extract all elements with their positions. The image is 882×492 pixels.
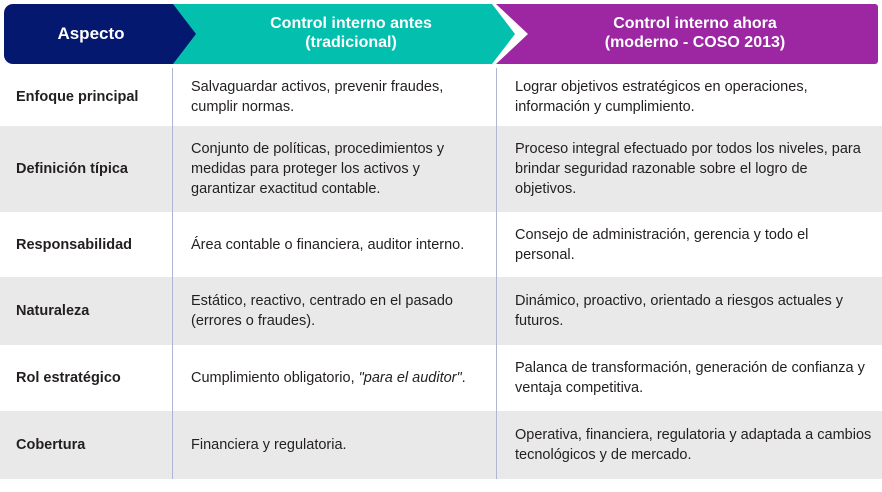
- cell-antes-text-prefix: Cumplimiento obligatorio,: [191, 370, 359, 386]
- cell-antes-text: Financiera y regulatoria.: [191, 435, 347, 455]
- table-header-row: Aspecto Control interno antes (tradicion…: [0, 0, 882, 68]
- cell-antes-text-suffix: .: [462, 370, 466, 386]
- cell-antes: Conjunto de políticas, procedimientos y …: [172, 126, 496, 212]
- table-row: Responsabilidad Área contable o financie…: [0, 212, 882, 277]
- cell-antes: Cumplimiento obligatorio, "para el audit…: [172, 345, 496, 411]
- cell-aspect-text: Naturaleza: [16, 301, 89, 321]
- cell-antes: Estático, reactivo, centrado en el pasad…: [172, 277, 496, 345]
- table-row: Rol estratégico Cumplimiento obligatorio…: [0, 345, 882, 411]
- cell-antes-text: Estático, reactivo, centrado en el pasad…: [191, 291, 482, 331]
- cell-antes-text: Salvaguardar activos, prevenir fraudes, …: [191, 77, 482, 117]
- header-cell-control-interno-ahora: Control interno ahora (moderno - COSO 20…: [496, 4, 878, 64]
- cell-aspect: Cobertura: [0, 411, 172, 479]
- cell-aspect-text: Cobertura: [16, 435, 85, 455]
- header-cell-aspecto: Aspecto: [4, 4, 200, 64]
- cell-ahora: Palanca de transformación, generación de…: [496, 345, 882, 411]
- header-label-control-interno-ahora: Control interno ahora (moderno - COSO 20…: [605, 15, 785, 52]
- cell-aspect: Definición típica: [0, 126, 172, 212]
- cell-aspect: Enfoque principal: [0, 68, 172, 126]
- cell-antes: Salvaguardar activos, prevenir fraudes, …: [172, 68, 496, 126]
- table-row: Enfoque principal Salvaguardar activos, …: [0, 68, 882, 126]
- cell-aspect-text: Responsabilidad: [16, 235, 132, 255]
- cell-aspect-text: Definición típica: [16, 159, 128, 179]
- table-row: Definición típica Conjunto de políticas,…: [0, 126, 882, 212]
- cell-antes-text: Área contable o financiera, auditor inte…: [191, 235, 464, 255]
- cell-ahora-text: Operativa, financiera, regulatoria y ada…: [515, 425, 872, 465]
- cell-ahora: Lograr objetivos estratégicos en operaci…: [496, 68, 882, 126]
- table-row: Naturaleza Estático, reactivo, centrado …: [0, 277, 882, 345]
- cell-antes-text: Conjunto de políticas, procedimientos y …: [191, 139, 482, 199]
- cell-ahora-text: Consejo de administración, gerencia y to…: [515, 225, 872, 265]
- cell-aspect-text: Enfoque principal: [16, 87, 138, 107]
- cell-ahora: Proceso integral efectuado por todos los…: [496, 126, 882, 212]
- header-cell-control-interno-antes: Control interno antes (tradicional): [173, 4, 529, 64]
- cell-aspect: Naturaleza: [0, 277, 172, 345]
- cell-aspect: Rol estratégico: [0, 345, 172, 411]
- cell-antes-text: Cumplimiento obligatorio, "para el audit…: [191, 368, 466, 388]
- header-label-control-interno-antes: Control interno antes (tradicional): [270, 15, 432, 52]
- cell-ahora-text: Palanca de transformación, generación de…: [515, 358, 872, 398]
- cell-ahora: Operativa, financiera, regulatoria y ada…: [496, 411, 882, 479]
- cell-antes-text-emphasis: "para el auditor": [359, 370, 462, 386]
- comparison-table: Aspecto Control interno antes (tradicion…: [0, 0, 882, 492]
- table-body: Enfoque principal Salvaguardar activos, …: [0, 68, 882, 479]
- header-label-aspecto: Aspecto: [57, 24, 124, 44]
- cell-ahora-text: Proceso integral efectuado por todos los…: [515, 139, 872, 199]
- table-row: Cobertura Financiera y regulatoria. Oper…: [0, 411, 882, 479]
- cell-aspect-text: Rol estratégico: [16, 368, 121, 388]
- cell-ahora-text: Dinámico, proactivo, orientado a riesgos…: [515, 291, 872, 331]
- cell-antes: Financiera y regulatoria.: [172, 411, 496, 479]
- cell-ahora: Consejo de administración, gerencia y to…: [496, 212, 882, 277]
- cell-ahora: Dinámico, proactivo, orientado a riesgos…: [496, 277, 882, 345]
- cell-ahora-text: Lograr objetivos estratégicos en operaci…: [515, 77, 872, 117]
- cell-antes: Área contable o financiera, auditor inte…: [172, 212, 496, 277]
- cell-aspect: Responsabilidad: [0, 212, 172, 277]
